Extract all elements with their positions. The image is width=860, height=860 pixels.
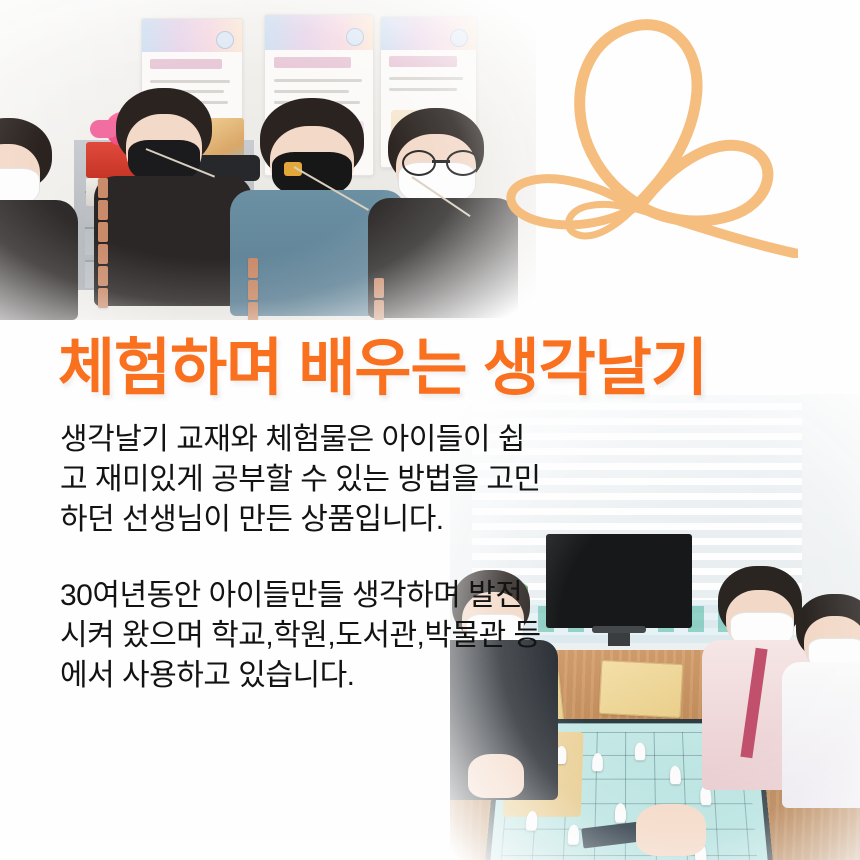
page-title: 체험하며 배우는 생각날기 — [58, 338, 858, 400]
map-card — [98, 222, 108, 242]
child-hand — [636, 804, 706, 856]
game-pawn — [592, 753, 603, 771]
child-body — [94, 176, 252, 306]
map-card — [374, 278, 384, 298]
map-card — [98, 266, 108, 286]
game-pawn — [526, 811, 538, 831]
poster-text-line — [150, 80, 230, 83]
child-figure — [0, 118, 86, 298]
map-card — [248, 302, 258, 320]
eyeglasses-icon — [402, 150, 480, 172]
map-card — [98, 288, 108, 308]
child-body — [368, 198, 518, 318]
map-card — [248, 258, 258, 278]
poster-text-line — [389, 77, 463, 80]
promo-banner: 체험하며 배우는 생각날기 생각날기 교재와 체험물은 아이들이 쉽 고 재미있… — [0, 0, 860, 860]
monitor-stand — [592, 626, 646, 633]
game-pawn — [670, 766, 681, 784]
activity-card — [599, 660, 684, 718]
child-figure — [788, 594, 860, 794]
map-card — [248, 280, 258, 300]
butterfly-flourish-logo — [498, 8, 798, 258]
map-card — [98, 200, 108, 220]
child-hand — [468, 754, 524, 798]
poster-text-line — [274, 90, 350, 93]
paragraph-intro: 생각날기 교재와 체험물은 아이들이 쉽 고 재미있게 공부할 수 있는 방법을… — [60, 420, 560, 540]
map-card — [374, 300, 384, 320]
photo-classroom-children — [0, 0, 536, 320]
poster-title-block — [389, 56, 457, 67]
poster-title-block — [150, 59, 222, 70]
child-body — [782, 662, 860, 808]
map-card — [98, 178, 108, 198]
game-pawn — [635, 742, 646, 760]
child-body — [0, 200, 78, 320]
map-card — [98, 244, 108, 264]
game-pawn — [615, 803, 626, 822]
computer-monitor — [546, 534, 692, 628]
poster-title-block — [274, 57, 352, 68]
poster-text-line — [274, 79, 363, 82]
paragraph-history: 30여년동안 아이들만들 생각하며 발전 시켜 왔으며 학교,학원,도서관,박물… — [60, 576, 560, 696]
description-block: 생각날기 교재와 체험물은 아이들이 쉽 고 재미있게 공부할 수 있는 방법을… — [60, 420, 560, 696]
poster-text-line — [389, 88, 457, 91]
game-pawn — [568, 825, 580, 845]
